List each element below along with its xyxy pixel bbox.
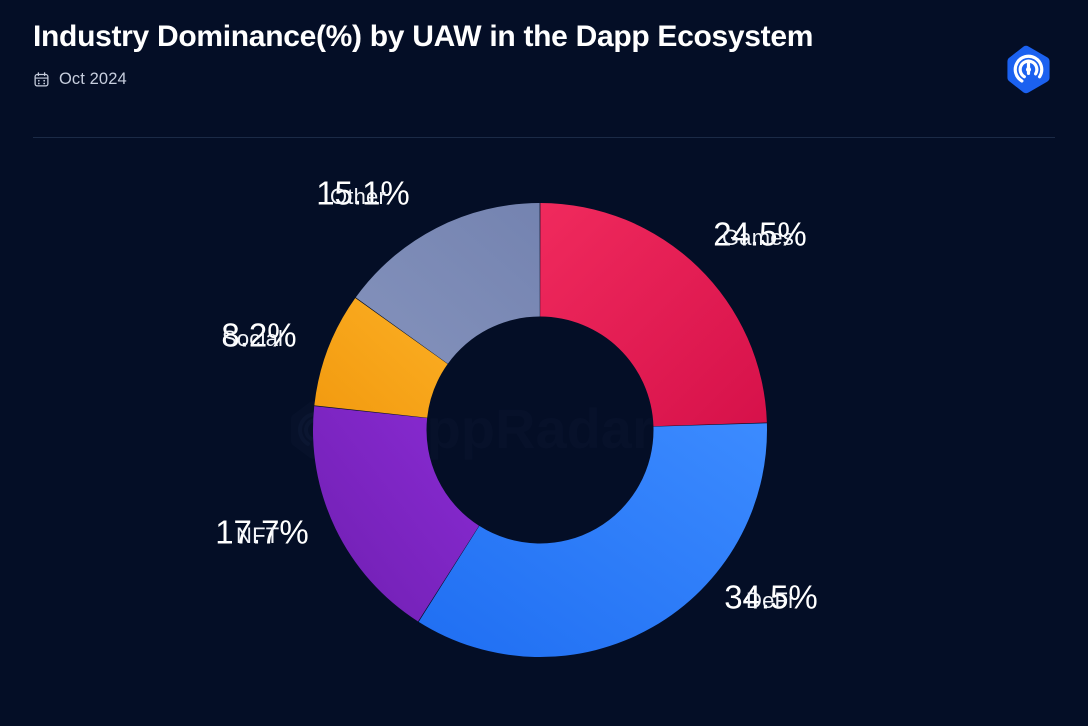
- slice-defi[interactable]: [419, 423, 767, 657]
- slice-label-nft: NFT: [236, 523, 279, 549]
- donut-slices: [313, 203, 767, 657]
- slice-label-defi: DeFi: [746, 588, 793, 614]
- donut-svg: 24.5% 34.5% 17.7% 8.2% 15.1%: [0, 0, 1088, 726]
- slice-label-other: Other: [330, 184, 386, 210]
- chart-card: Industry Dominance(%) by UAW in the Dapp…: [0, 0, 1088, 726]
- donut-chart: DappRadar: [0, 0, 1088, 726]
- slice-label-social: Social: [222, 326, 283, 352]
- slice-label-games: Games: [722, 225, 794, 251]
